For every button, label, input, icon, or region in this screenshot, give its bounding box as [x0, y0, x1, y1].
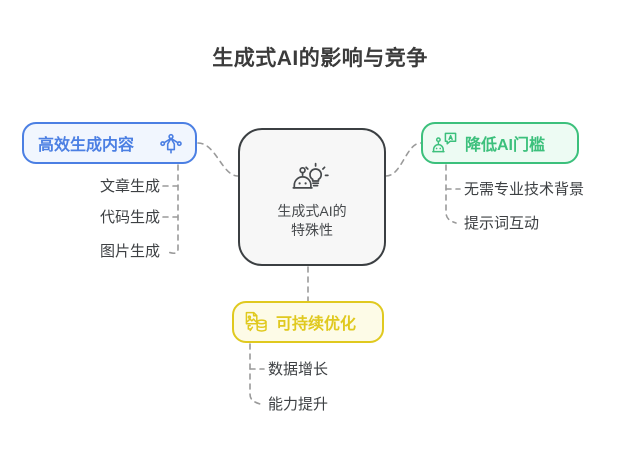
robot-lightbulb-icon	[289, 154, 335, 198]
branch-node-left-label: 高效生成内容	[38, 131, 134, 155]
leaf-item[interactable]: 数据增长	[268, 361, 328, 379]
branch-node-right[interactable]: 降低AI门槛	[421, 122, 579, 164]
leaf-item[interactable]: 图片生成	[0, 243, 160, 261]
branch-node-left[interactable]: 高效生成内容	[22, 122, 197, 164]
connector-center-to-right	[386, 143, 421, 176]
connector-left-spine	[168, 165, 178, 253]
leaf-item[interactable]: 代码生成	[0, 209, 160, 227]
connector-right-spine	[446, 165, 456, 223]
leaf-item[interactable]: 无需专业技术背景	[464, 181, 584, 199]
connector-bottom-spine	[250, 344, 260, 404]
leaf-item[interactable]: 提示词互动	[464, 215, 539, 233]
document-database-icon	[243, 309, 269, 335]
robot-speech-bubble-icon	[432, 130, 458, 156]
page-title: 生成式AI的影响与竞争	[0, 42, 640, 72]
leaf-item[interactable]: 能力提升	[268, 396, 328, 414]
leaf-item[interactable]: 文章生成	[0, 178, 160, 196]
branch-node-bottom-label: 可持续优化	[276, 310, 356, 334]
branch-node-right-label: 降低AI门槛	[465, 131, 545, 155]
central-node-label: 生成式AI的 特殊性	[277, 202, 346, 240]
mindmap-canvas: 生成式AI的影响与竞争 生成式AI的 特殊性 高效生成内容	[0, 0, 640, 456]
connector-left-to-center	[198, 143, 238, 176]
pen-tool-icon	[158, 130, 184, 156]
central-node[interactable]: 生成式AI的 特殊性	[238, 128, 386, 266]
branch-node-bottom[interactable]: 可持续优化	[232, 301, 384, 343]
